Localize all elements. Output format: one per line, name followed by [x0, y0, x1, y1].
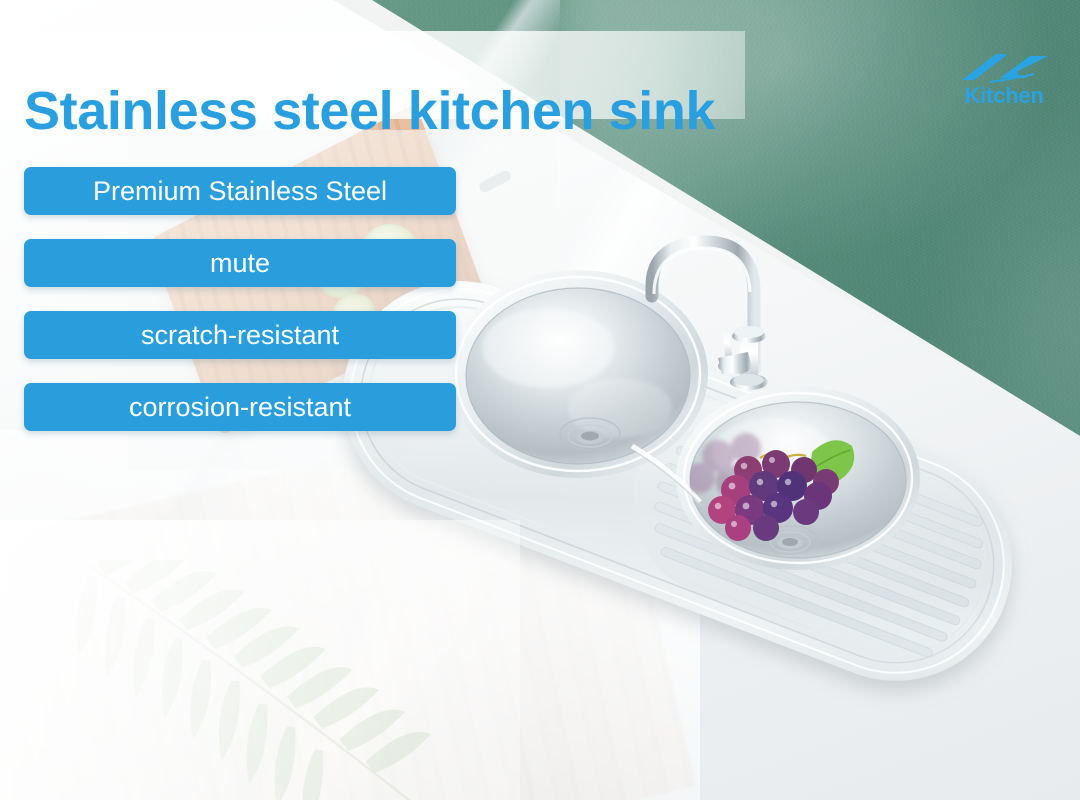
brand-logo: Kitchen	[948, 52, 1060, 112]
feature-badge-label: mute	[210, 248, 270, 278]
product-banner: Stainless steel kitchen sink Kitchen Pre…	[0, 0, 1080, 800]
feature-badge-corrosion-resistant[interactable]: corrosion-resistant	[24, 383, 456, 431]
feature-badge-mute[interactable]: mute	[24, 239, 456, 287]
page-title: Stainless steel kitchen sink	[24, 76, 744, 146]
feature-badge-label: corrosion-resistant	[129, 392, 351, 422]
feature-badge-premium-stainless-steel[interactable]: Premium Stainless Steel	[24, 167, 456, 215]
brand-name: Kitchen	[948, 84, 1060, 108]
feature-badge-label: scratch-resistant	[141, 320, 339, 350]
feature-badge-list: Premium Stainless Steel mute scratch-res…	[24, 167, 456, 431]
feature-badge-label: Premium Stainless Steel	[93, 176, 387, 206]
feature-badge-scratch-resistant[interactable]: scratch-resistant	[24, 311, 456, 359]
wave-swoosh-icon	[948, 52, 1060, 86]
